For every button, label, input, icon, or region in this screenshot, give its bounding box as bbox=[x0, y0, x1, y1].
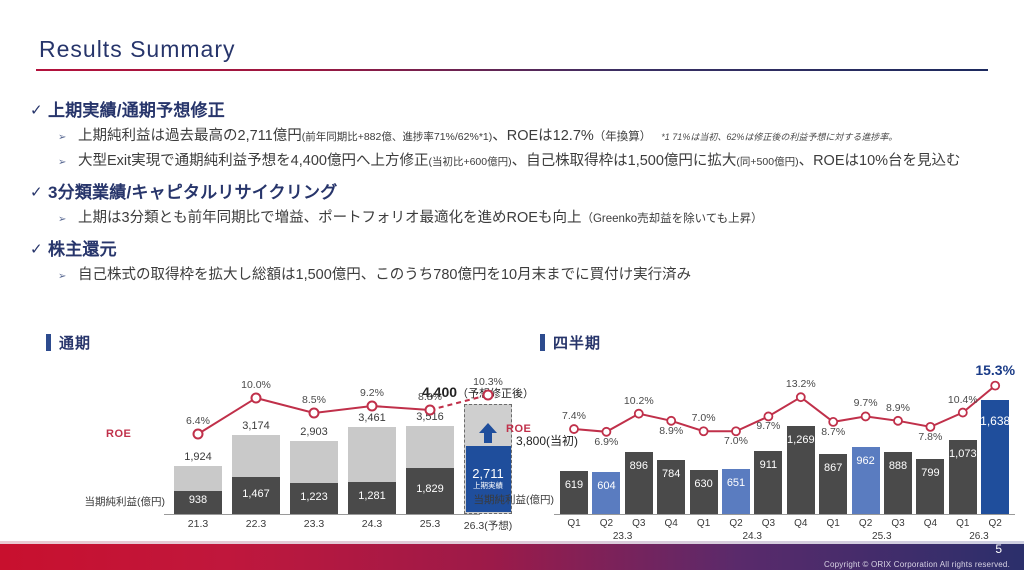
chart-quarterly-roe-label: 8.9% bbox=[643, 425, 699, 437]
chart-annual-roe-label: 8.5% bbox=[284, 394, 344, 406]
bullet-text: 上期純利益は過去最高の2,711億円(前年同期比+882億、進捗率71%/62%… bbox=[78, 127, 897, 147]
bullet-body: ✓ 上期実績/通期予想修正 ➢ 上期純利益は過去最高の2,711億円(前年同期比… bbox=[30, 96, 1010, 286]
chart-quarterly-roe-label: 9.7% bbox=[740, 420, 796, 432]
bullet-part: 自己株式の取得枠を拡大し総額は1,500億円、このうち780億円を10月末までに… bbox=[78, 267, 691, 283]
bullet-part: 上期は3分類とも前年同期比で増益、ポートフォリオ最適化を進めROEも向上 bbox=[78, 210, 581, 226]
chart-annual-plot: 当期純利益(億円)1,92493821.33,1741,46722.32,903… bbox=[46, 354, 476, 539]
chart-annual-roe-label: 10.0% bbox=[226, 379, 286, 391]
title-divider bbox=[36, 69, 988, 71]
section-heading-3: ✓ 株主還元 bbox=[30, 239, 1010, 261]
bullet-part: 、自己株取得枠は1,500億円に拡大 bbox=[512, 153, 737, 169]
bullet-part: 、ROEは12.7% bbox=[492, 128, 594, 144]
chart-annual-roe-legend: ROE bbox=[106, 428, 131, 440]
bullet-3-1: ➢ 自己株式の取得枠を拡大し総額は1,500億円、このうち780億円を10月末ま… bbox=[58, 266, 1010, 286]
chart-annual-roe-label: 8.8% bbox=[400, 391, 460, 403]
section-heading-label: 3分類業績/キャピタルリサイクリング bbox=[48, 182, 337, 204]
chart-annual-header: 通期 bbox=[46, 332, 476, 353]
chart-quarterly-roe-label: 8.9% bbox=[870, 402, 926, 414]
bullet-text: 自己株式の取得枠を拡大し総額は1,500億円、このうち780億円を10月末までに… bbox=[78, 266, 691, 285]
section-heading-label: 株主還元 bbox=[48, 239, 117, 261]
bullet-part-small: (前年同期比+882億、進捗率71%/62%*1) bbox=[302, 131, 493, 143]
bullet-1-2: ➢ 大型Exit実現で通期純利益予想を4,400億円へ上方修正(当初比+600億… bbox=[58, 152, 1010, 172]
page-number: 5 bbox=[995, 542, 1002, 556]
chart-quarterly-roe-label: 10.2% bbox=[611, 395, 667, 407]
chart-quarterly-roe-label: 8.7% bbox=[805, 426, 861, 438]
chart-quarterly-roe-label: 7.0% bbox=[676, 412, 732, 424]
bullet-1-1: ➢ 上期純利益は過去最高の2,711億円(前年同期比+882億、進捗率71%/6… bbox=[58, 127, 1010, 147]
bullet-part-small: (同+500億円) bbox=[736, 156, 798, 168]
section-heading-2: ✓ 3分類業績/キャピタルリサイクリング bbox=[30, 182, 1010, 204]
bullet-part-small: （Greenko売却益を除いても上昇） bbox=[581, 213, 762, 225]
accent-bar-icon bbox=[46, 334, 51, 351]
title-block: Results Summary bbox=[36, 36, 988, 71]
chart-annual-roe-label: 6.4% bbox=[168, 415, 228, 427]
page-title: Results Summary bbox=[36, 36, 988, 62]
chart-quarterly-roe-label: 13.2% bbox=[773, 378, 829, 390]
arrow-icon: ➢ bbox=[58, 268, 78, 286]
chart-quarterly: 四半期 当期純利益(億円)619Q1604Q2896Q3784Q4630Q165… bbox=[540, 332, 1024, 537]
chart-quarterly-roe-label: 15.3% bbox=[967, 362, 1023, 378]
arrow-icon: ➢ bbox=[58, 154, 78, 172]
check-icon: ✓ bbox=[30, 182, 48, 204]
arrow-icon: ➢ bbox=[58, 211, 78, 229]
chart-annual-roe-label: 9.2% bbox=[342, 387, 402, 399]
chart-quarterly-roe-legend: ROE bbox=[506, 423, 531, 435]
check-icon: ✓ bbox=[30, 100, 48, 122]
footnote: *1 71%は当初、62%は修正後の利益予想に対する進捗率。 bbox=[661, 132, 897, 142]
chart-annual-title: 通期 bbox=[59, 332, 91, 353]
chart-quarterly-roe-label: 7.0% bbox=[708, 435, 764, 447]
bullet-part: 上期純利益は過去最高の2,711億円 bbox=[78, 128, 302, 144]
bullet-part: 大型Exit実現で通期純利益予想を4,400億円へ上方修正 bbox=[78, 153, 428, 169]
chart-quarterly-roe-label: 10.4% bbox=[935, 394, 991, 406]
bullet-part-small: (当初比+600億円) bbox=[428, 156, 511, 168]
chart-quarterly-roe-label: 7.8% bbox=[902, 431, 958, 443]
copyright-text: Copyright © ORIX Corporation All rights … bbox=[824, 560, 1010, 569]
bullet-text: 上期は3分類とも前年同期比で増益、ポートフォリオ最適化を進めROEも向上（Gre… bbox=[78, 209, 763, 229]
chart-quarterly-roe-label: 6.9% bbox=[578, 436, 634, 448]
bullet-text: 大型Exit実現で通期純利益予想を4,400億円へ上方修正(当初比+600億円)… bbox=[78, 152, 961, 172]
check-icon: ✓ bbox=[30, 239, 48, 261]
chart-quarterly-roe-label: 7.4% bbox=[546, 410, 602, 422]
section-heading-1: ✓ 上期実績/通期予想修正 bbox=[30, 100, 1010, 122]
bullet-2-1: ➢ 上期は3分類とも前年同期比で増益、ポートフォリオ最適化を進めROEも向上（G… bbox=[58, 209, 1010, 229]
chart-annual: 通期 当期純利益(億円)1,92493821.33,1741,46722.32,… bbox=[46, 332, 476, 537]
chart-quarterly-title: 四半期 bbox=[553, 332, 601, 353]
bullet-part-small: （年換算） bbox=[594, 131, 652, 143]
accent-bar-icon bbox=[540, 334, 545, 351]
chart-quarterly-header: 四半期 bbox=[540, 332, 1024, 353]
section-heading-label: 上期実績/通期予想修正 bbox=[48, 100, 225, 122]
chart-quarterly-plot: 当期純利益(億円)619Q1604Q2896Q3784Q4630Q1651Q29… bbox=[460, 354, 1024, 539]
bullet-part: 、ROEは10%台を見込む bbox=[799, 153, 961, 169]
arrow-icon: ➢ bbox=[58, 129, 78, 147]
slide: Results Summary ✓ 上期実績/通期予想修正 ➢ 上期純利益は過去… bbox=[0, 0, 1024, 570]
